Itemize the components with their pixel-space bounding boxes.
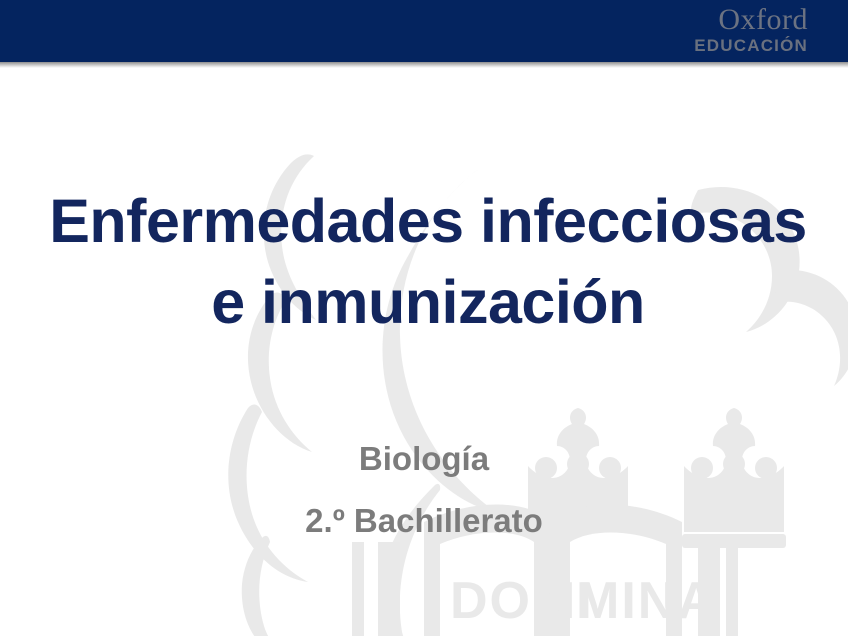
slide-content: Enfermedades infecciosas e inmunización … bbox=[0, 0, 848, 636]
slide-title: Enfermedades infecciosas e inmunización bbox=[0, 181, 848, 343]
oxford-brand-wordmark: Oxford bbox=[694, 5, 808, 35]
slide-title-line-2: e inmunización bbox=[0, 262, 848, 343]
oxford-educacion-tagline: EDUCACIÓN bbox=[694, 36, 808, 56]
header-shadow-divider bbox=[0, 62, 848, 68]
oxford-educacion-logo: Oxford EDUCACIÓN bbox=[694, 5, 808, 56]
slide-title-line-1: Enfermedades infecciosas bbox=[0, 181, 848, 262]
title-slide: DOMI MINA Oxford EDUCACIÓN Enfermedades … bbox=[0, 0, 848, 636]
slide-subtitle-level: 2.º Bachillerato bbox=[0, 490, 848, 552]
slide-subtitle: Biología 2.º Bachillerato bbox=[0, 428, 848, 552]
slide-subtitle-subject: Biología bbox=[0, 428, 848, 490]
